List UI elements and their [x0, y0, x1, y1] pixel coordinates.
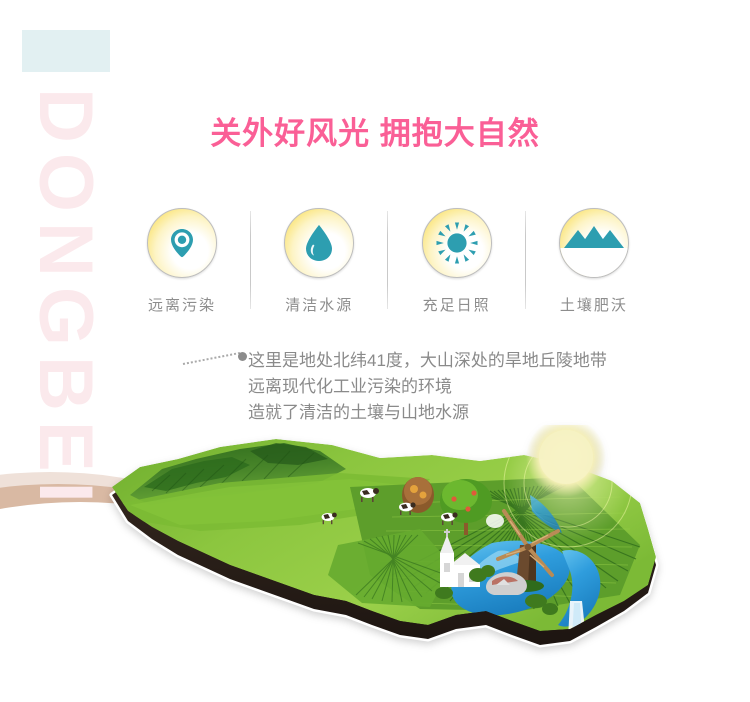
feature-item-clean-water: 清洁水源	[265, 208, 373, 315]
description-line: 造就了清洁的土壤与山地水源	[248, 400, 718, 426]
relief-map-illustration	[100, 425, 670, 675]
feature-divider	[250, 211, 251, 309]
leader-dot	[238, 352, 247, 361]
cyan-accent-block	[22, 30, 110, 72]
feature-label: 土壤肥沃	[560, 294, 628, 315]
feature-list: 远离污染 清洁水源	[128, 208, 648, 326]
description-line: 远离现代化工业污染的环境	[248, 374, 718, 400]
feature-label: 清洁水源	[285, 294, 353, 315]
description-block: 这里是地处北纬41度，大山深处的旱地丘陵地带 远离现代化工业污染的环境 造就了清…	[248, 348, 718, 426]
feature-divider	[387, 211, 388, 309]
page-title: 关外好风光 拥抱大自然	[0, 108, 750, 153]
location-pin-icon	[147, 208, 217, 278]
sun-icon	[422, 208, 492, 278]
leader-dotted-line	[183, 352, 240, 365]
leader-line	[183, 352, 245, 374]
feature-item-pollution-free: 远离污染	[128, 208, 236, 315]
mountains-icon	[559, 208, 629, 278]
feature-label: 充足日照	[423, 294, 491, 315]
feature-item-fertile-soil: 土壤肥沃	[540, 208, 648, 315]
feature-label: 远离污染	[148, 294, 216, 315]
feature-item-sunlight: 充足日照	[403, 208, 511, 315]
promo-banner: DONGBEI 关外好风光 拥抱大自然 远离污染 清洁水源	[0, 0, 750, 702]
description-line: 这里是地处北纬41度，大山深处的旱地丘陵地带	[248, 348, 718, 374]
water-drop-icon	[284, 208, 354, 278]
feature-divider	[525, 211, 526, 309]
